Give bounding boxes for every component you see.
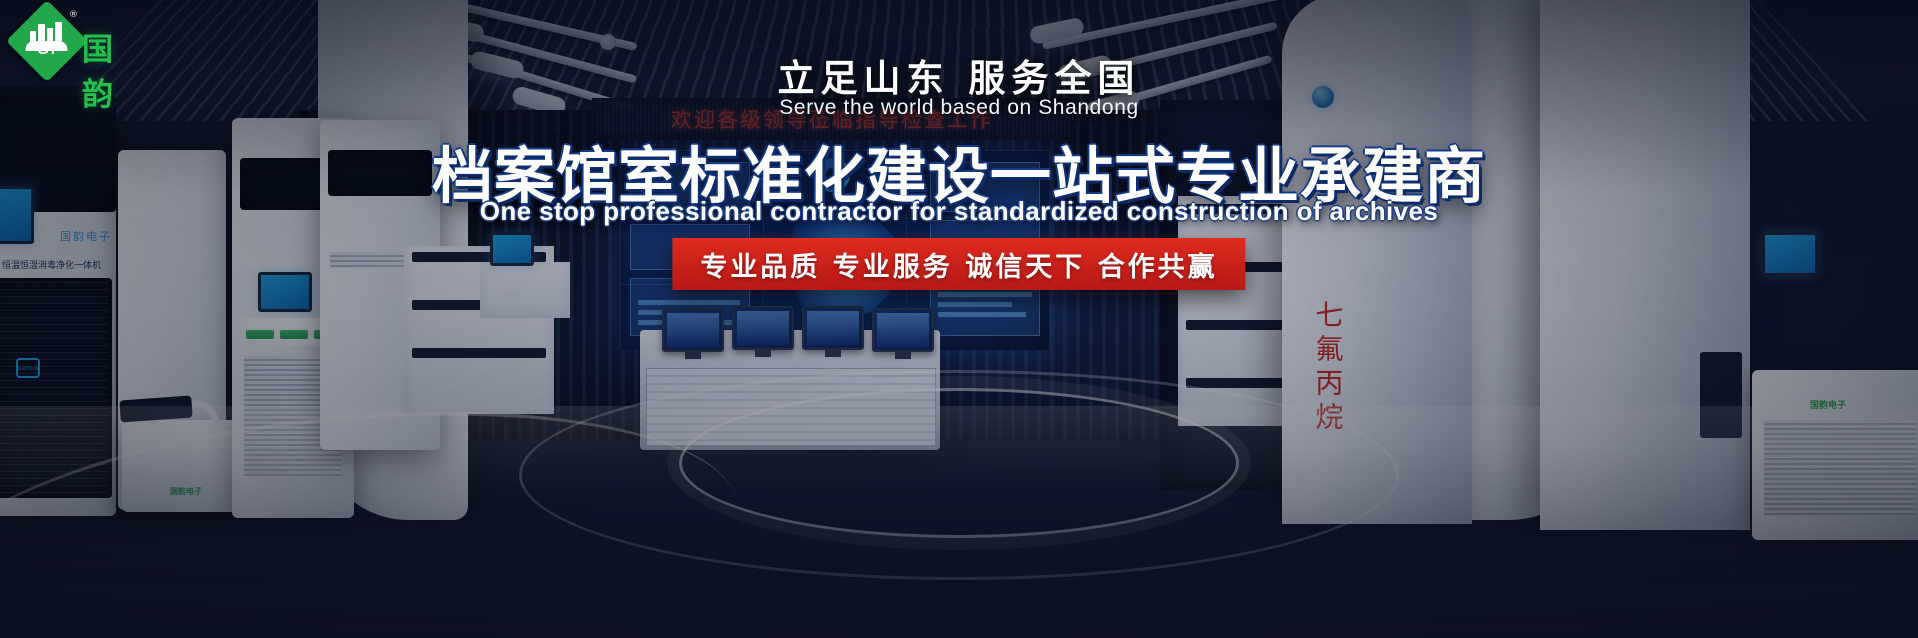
banner-overlay: GY ® 国韵 立足山东 服务全国 Serve the world based … [0, 0, 1918, 638]
subline-en: One stop professional contractor for sta… [0, 196, 1918, 227]
cta-banner[interactable]: 专业品质 专业服务 诚信天下 合作共赢 [672, 238, 1245, 290]
registered-mark: ® [69, 10, 78, 20]
kicker-en: Serve the world based on Shandong [0, 96, 1918, 120]
hero-banner: 欢迎各级领导莅临指导检查工作 国韵电子 恒温恒湿消毒净化一体机 ELEKTRON [0, 0, 1918, 638]
kicker-cn: 立足山东 服务全国 [0, 48, 1918, 102]
cta-label: 专业品质 专业服务 诚信天下 合作共赢 [700, 245, 1217, 284]
